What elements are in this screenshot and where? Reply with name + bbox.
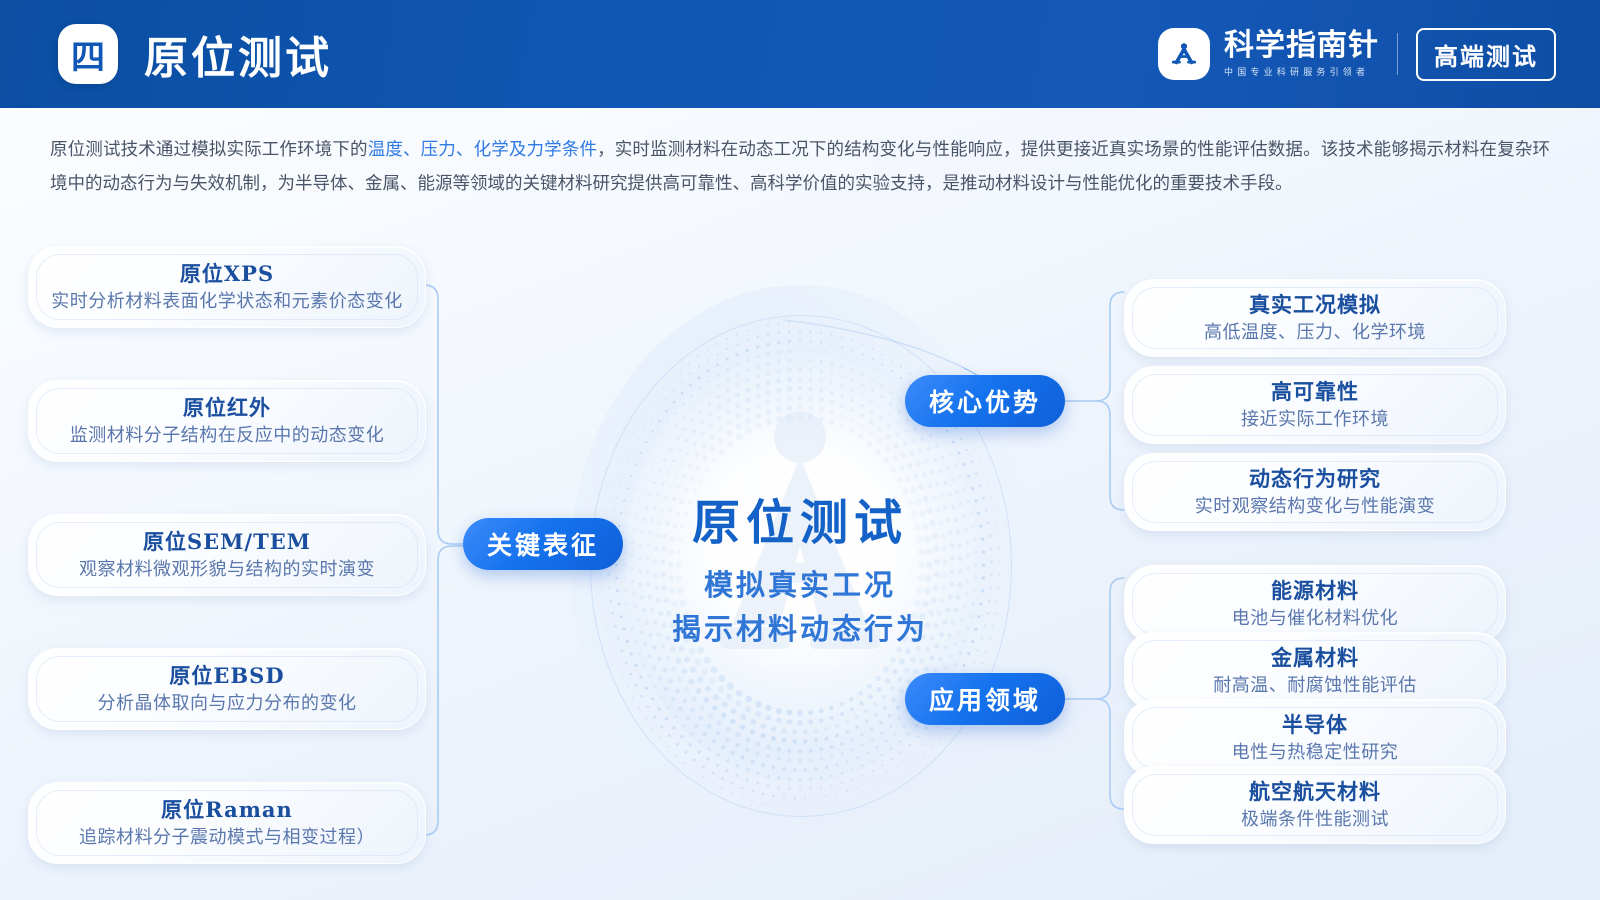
card-title: 航空航天材料 (1249, 778, 1381, 805)
card-desc: 极端条件性能测试 (1241, 807, 1389, 833)
center-subtitle-line2: 揭示材料动态行为 (560, 607, 1040, 651)
card-key-3[interactable]: 原位EBSD 分析晶体取向与应力分布的变化 (28, 648, 426, 730)
card-title: 原位XPS (180, 260, 274, 287)
card-desc: 观察材料微观形貌与结构的实时演变 (79, 557, 375, 583)
card-key-4[interactable]: 原位Raman 追踪材料分子震动模式与相变过程） (28, 782, 426, 864)
card-key-2[interactable]: 原位SEM/TEM 观察材料微观形貌与结构的实时演变 (28, 514, 426, 596)
card-key-1[interactable]: 原位红外 监测材料分子结构在反应中的动态变化 (28, 380, 426, 462)
card-advantage-2[interactable]: 动态行为研究 实时观察结构变化与性能演变 (1124, 453, 1506, 531)
center-subtitle-line1: 模拟真实工况 (560, 563, 1040, 607)
card-desc: 电性与热稳定性研究 (1232, 740, 1399, 766)
card-key-0[interactable]: 原位XPS 实时分析材料表面化学状态和元素价态变化 (28, 246, 426, 328)
branch-badge-application-fields[interactable]: 应用领域 (905, 673, 1065, 725)
branch-badge-core-advantages[interactable]: 核心优势 (905, 375, 1065, 427)
card-title: 真实工况模拟 (1249, 291, 1381, 318)
center-title: 原位测试 (560, 483, 1040, 553)
infographic-page: 四 原位测试 科学指南针 中国专业科研服务引领者 高端测试 原位测试技术通过模拟… (0, 0, 1600, 900)
card-application-3[interactable]: 航空航天材料 极端条件性能测试 (1124, 766, 1506, 844)
card-desc: 监测材料分子结构在反应中的动态变化 (70, 423, 385, 449)
card-title: 原位Raman (161, 796, 293, 823)
card-title: 高可靠性 (1271, 378, 1359, 405)
card-title: 原位EBSD (169, 662, 284, 689)
card-desc: 接近实际工作环境 (1241, 407, 1389, 433)
card-advantage-1[interactable]: 高可靠性 接近实际工作环境 (1124, 366, 1506, 444)
card-title: 半导体 (1282, 711, 1348, 738)
card-title: 动态行为研究 (1249, 465, 1381, 492)
card-title: 原位SEM/TEM (143, 528, 311, 555)
card-desc: 分析晶体取向与应力分布的变化 (98, 691, 357, 717)
card-title: 金属材料 (1271, 644, 1359, 671)
card-desc: 耐高温、耐腐蚀性能评估 (1213, 673, 1417, 699)
card-desc: 追踪材料分子震动模式与相变过程） (79, 825, 375, 851)
card-title: 能源材料 (1271, 577, 1359, 604)
card-title: 原位红外 (183, 394, 271, 421)
card-desc: 实时分析材料表面化学状态和元素价态变化 (51, 289, 403, 315)
card-desc: 高低温度、压力、化学环境 (1204, 320, 1426, 346)
center-subtitle: 模拟真实工况 揭示材料动态行为 (560, 563, 1040, 651)
card-advantage-0[interactable]: 真实工况模拟 高低温度、压力、化学环境 (1124, 279, 1506, 357)
card-desc: 电池与催化材料优化 (1232, 606, 1399, 632)
center-hub: 原位测试 模拟真实工况 揭示材料动态行为 (560, 255, 1040, 875)
branch-badge-key-characterization[interactable]: 关键表征 (463, 518, 623, 570)
card-desc: 实时观察结构变化与性能演变 (1195, 494, 1436, 520)
